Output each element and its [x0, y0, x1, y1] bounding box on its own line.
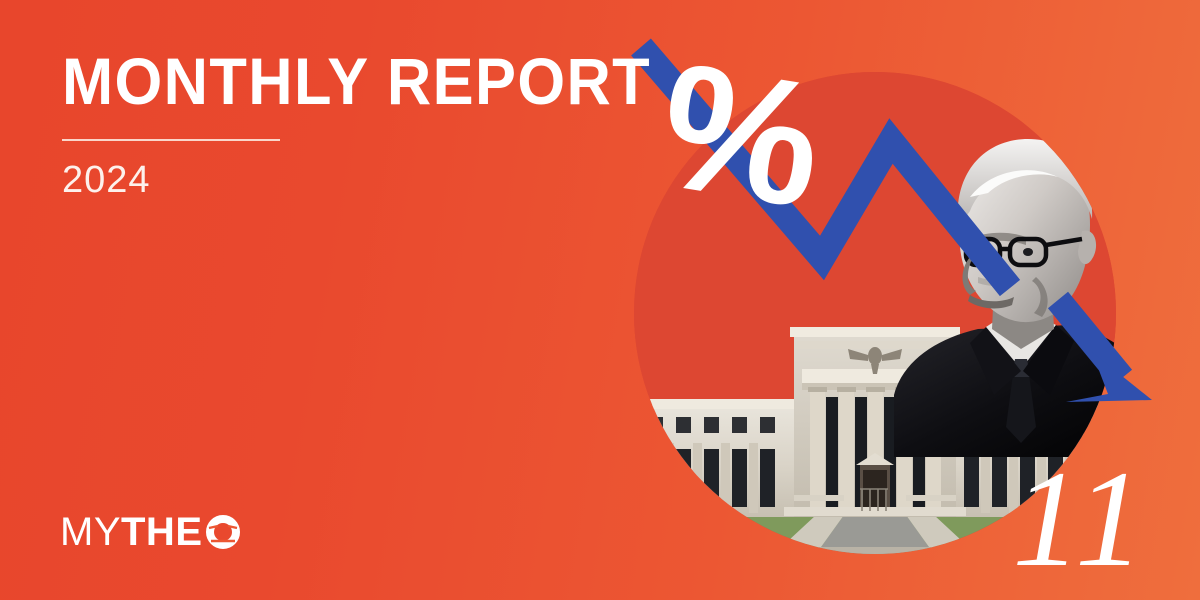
- report-year: 2024: [62, 161, 622, 199]
- monthly-report-banner: % 11 MONTHLY REPORT 2024 MY THE: [0, 0, 1200, 600]
- central-banker-portrait: [886, 127, 1116, 457]
- logo-text-light: MY: [60, 512, 121, 552]
- ring-o-icon: [205, 514, 241, 550]
- mytheo-logo[interactable]: MY THE: [60, 512, 241, 552]
- title-divider: [62, 139, 280, 141]
- page-title: MONTHLY REPORT: [62, 48, 583, 115]
- percent-symbol: %: [649, 35, 827, 235]
- headline-block: MONTHLY REPORT 2024: [62, 48, 622, 199]
- logo-text-bold: THE: [121, 512, 203, 552]
- issue-number: 11: [1012, 450, 1148, 588]
